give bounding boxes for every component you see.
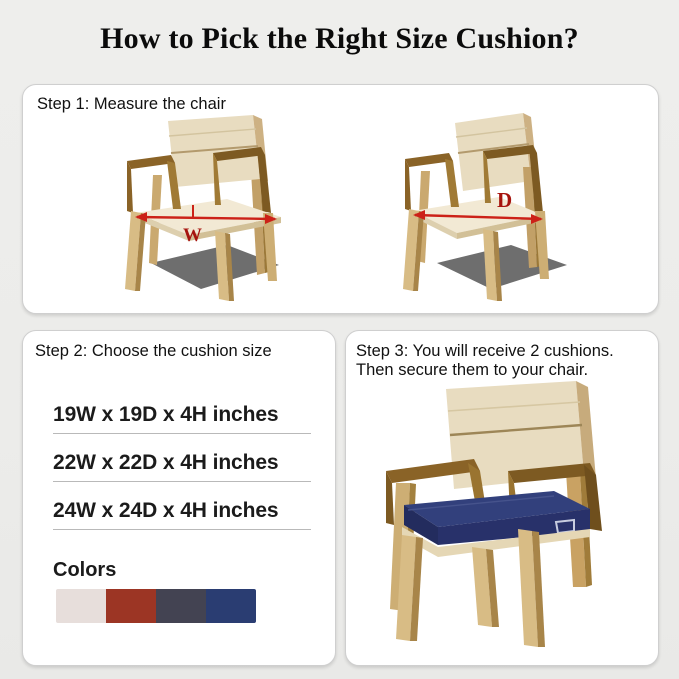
page-title: How to Pick the Right Size Cushion? <box>0 22 679 56</box>
cushion-size-list: 19W x 19D x 4H inches 22W x 22D x 4H inc… <box>53 403 311 544</box>
step-3-label: Step 3: You will receive 2 cushions. The… <box>356 342 652 380</box>
width-letter-label: W <box>183 225 202 246</box>
size-option-22[interactable]: 22W x 22D x 4H inches <box>53 451 311 482</box>
page-header: How to Pick the Right Size Cushion? <box>0 22 679 56</box>
step-2-label: Step 2: Choose the cushion size <box>35 342 272 361</box>
color-swatch-charcoal[interactable] <box>156 589 206 623</box>
color-swatch-navy[interactable] <box>206 589 256 623</box>
color-swatch-beige[interactable] <box>56 589 106 623</box>
chair-depth-diagram: D <box>391 105 601 310</box>
depth-letter-label: D <box>497 188 512 212</box>
panel-step-3: Step 3: You will receive 2 cushions. The… <box>345 330 659 666</box>
step-1-label: Step 1: Measure the chair <box>37 95 226 114</box>
color-swatch-group <box>56 589 256 623</box>
size-option-19[interactable]: 19W x 19D x 4H inches <box>53 403 311 434</box>
color-swatch-rust-red[interactable] <box>106 589 156 623</box>
panel-step-1: Step 1: Measure the chair <box>22 84 659 314</box>
chair-with-navy-cushion <box>368 379 638 654</box>
colors-label: Colors <box>53 559 116 582</box>
panel-step-2: Step 2: Choose the cushion size 19W x 19… <box>22 330 336 666</box>
size-option-24[interactable]: 24W x 24D x 4H inches <box>53 499 311 530</box>
page-root: How to Pick the Right Size Cushion? Step… <box>0 0 679 679</box>
chair-width-diagram: W <box>105 113 305 308</box>
